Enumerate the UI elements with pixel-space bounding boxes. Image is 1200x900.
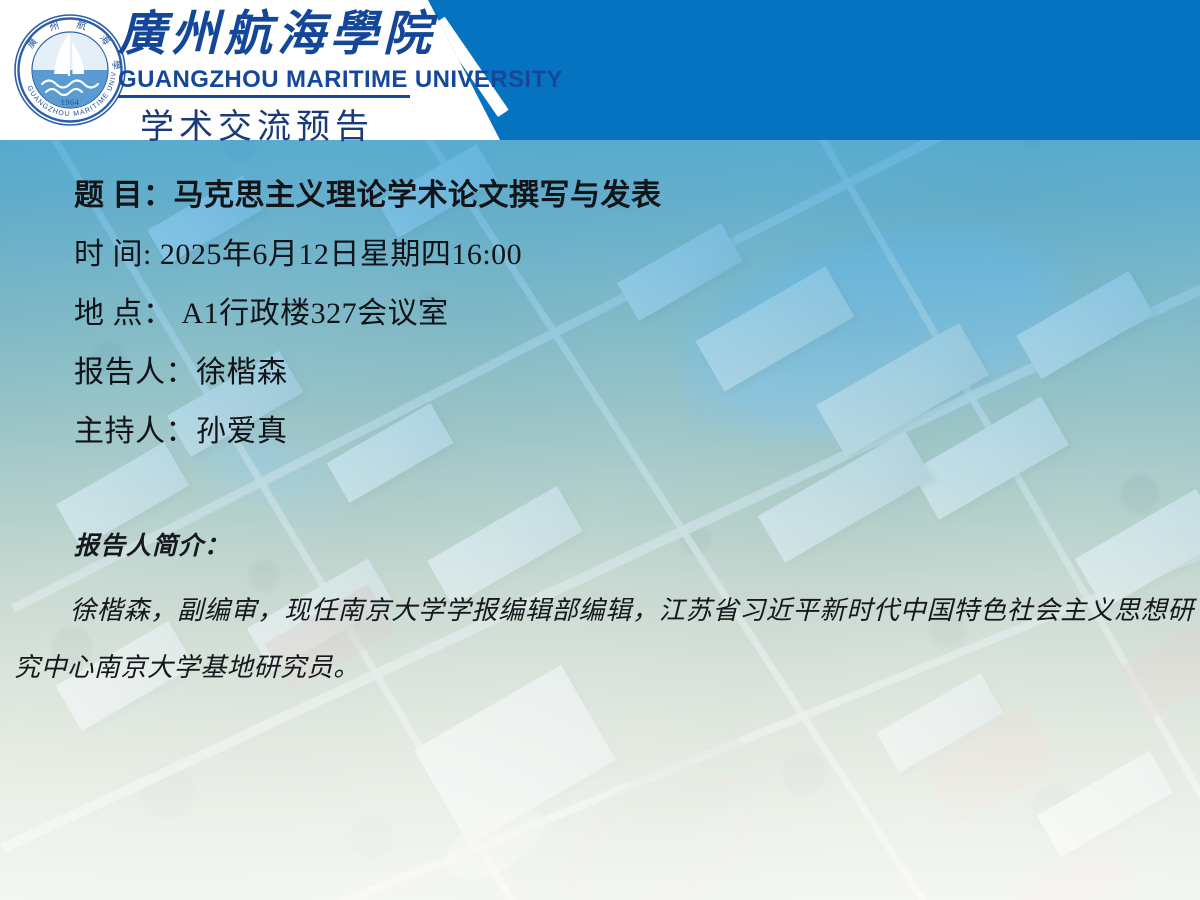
header-divider	[118, 95, 410, 98]
speaker-bio-text: 徐楷森，副编审，现任南京大学学报编辑部编辑，江苏省习近平新时代中国特色社会主义思…	[14, 582, 1194, 696]
speaker-bio-heading: 报告人简介：	[74, 526, 230, 562]
poster-header: 1964 廣 州 航 海 學 院 GUANGZHOU MARITIME UNIV…	[0, 0, 1200, 140]
svg-text:1964: 1964	[61, 98, 79, 107]
announcement-host: 主持人：孙爱真	[74, 412, 1074, 452]
university-name-cn: 廣州航海學院	[118, 8, 436, 62]
announcement-venue: 地 点： A1行政楼327会议室	[74, 294, 1074, 334]
announcement-topic: 题 目：马克思主义理论学术论文撰写与发表	[74, 176, 1074, 216]
university-name-en: GUANGZHOU MARITIME UNIVERSITY	[118, 66, 563, 94]
academic-announcement-poster: 1964 廣 州 航 海 學 院 GUANGZHOU MARITIME UNIV…	[0, 0, 1200, 900]
announcement-details: 题 目：马克思主义理论学术论文撰写与发表 时 间: 2025年6月12日星期四1…	[74, 176, 1074, 471]
announcement-speaker: 报告人：徐楷森	[74, 353, 1074, 393]
poster-content: 题 目：马克思主义理论学术论文撰写与发表 时 间: 2025年6月12日星期四1…	[0, 140, 1200, 900]
university-emblem-icon: 1964 廣 州 航 海 學 院 GUANGZHOU MARITIME UNIV…	[12, 12, 128, 128]
announcement-time: 时 间: 2025年6月12日星期四16:00	[74, 235, 1074, 275]
